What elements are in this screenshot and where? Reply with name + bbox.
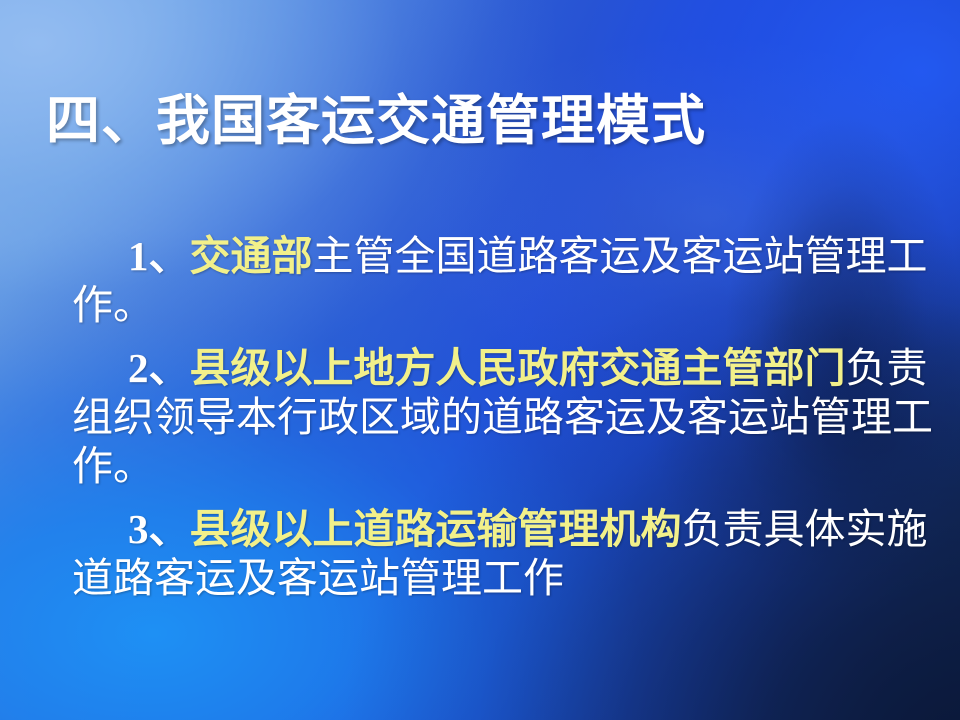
list-item-number: 2、 bbox=[128, 345, 190, 391]
slide-title: 四、我国客运交通管理模式 bbox=[46, 92, 706, 151]
list-item-number: 3、 bbox=[128, 506, 190, 552]
slide-body: 1、交通部主管全国道路客运及客运站管理工作。 2、县级以上地方人民政府交通主管部… bbox=[72, 232, 948, 603]
list-item: 3、县级以上道路运输管理机构负责具体实施道路客运及客运站管理工作 bbox=[72, 505, 948, 603]
list-item: 1、交通部主管全国道路客运及客运站管理工作。 bbox=[72, 232, 948, 330]
list-item: 2、县级以上地方人民政府交通主管部门负责组织领导本行政区域的道路客运及客运站管理… bbox=[72, 344, 948, 491]
presentation-slide: 四、我国客运交通管理模式 1、交通部主管全国道路客运及客运站管理工作。 2、县级… bbox=[0, 0, 960, 720]
list-item-highlight: 县级以上地方人民政府交通主管部门 bbox=[190, 345, 846, 391]
list-item-highlight: 交通部 bbox=[190, 233, 313, 279]
list-item-highlight: 县级以上道路运输管理机构 bbox=[190, 506, 682, 552]
list-item-number: 1、 bbox=[128, 233, 190, 279]
slide-content: 四、我国客运交通管理模式 1、交通部主管全国道路客运及客运站管理工作。 2、县级… bbox=[0, 0, 960, 720]
